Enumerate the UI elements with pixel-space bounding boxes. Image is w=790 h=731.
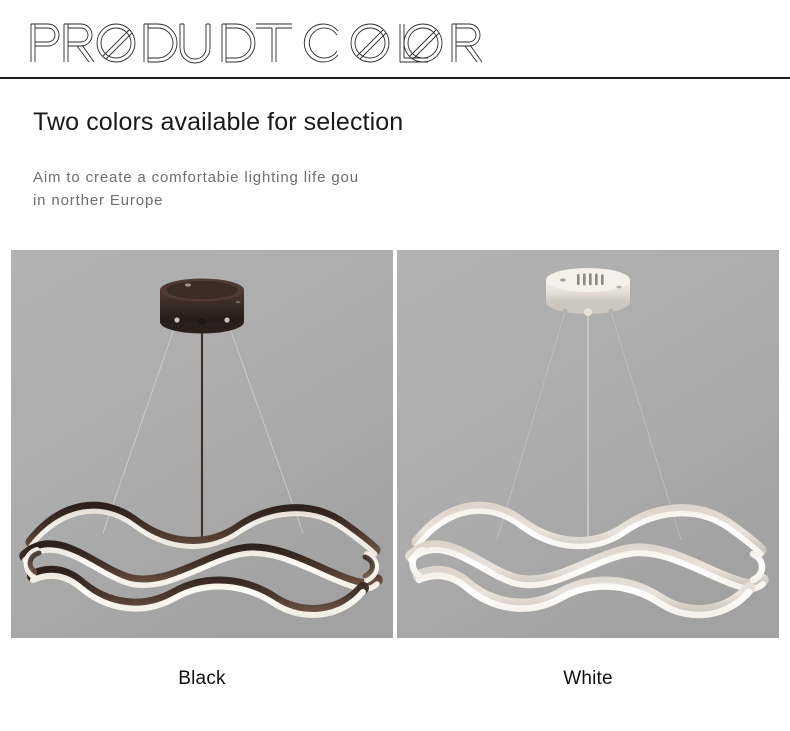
section-headline: Two colors available for selection	[33, 107, 403, 137]
caption-white: White	[397, 666, 779, 696]
header-divider-rule	[0, 77, 790, 79]
canopy	[160, 279, 244, 334]
banner-title-outline-text-2	[394, 18, 574, 66]
gallery-captions: Black White	[11, 666, 779, 696]
white-lamp-illustration	[397, 250, 779, 638]
banner	[0, 0, 790, 80]
black-lamp-illustration	[11, 250, 393, 638]
product-photo-black[interactable]	[11, 250, 393, 638]
banner-title-outline-text	[28, 18, 448, 66]
caption-black: Black	[11, 666, 393, 696]
product-photo-white[interactable]	[397, 250, 779, 638]
canopy	[546, 268, 630, 316]
product-color-gallery	[11, 250, 779, 638]
section-subcopy: Aim to create a comfortabie lighting lif…	[33, 166, 359, 212]
